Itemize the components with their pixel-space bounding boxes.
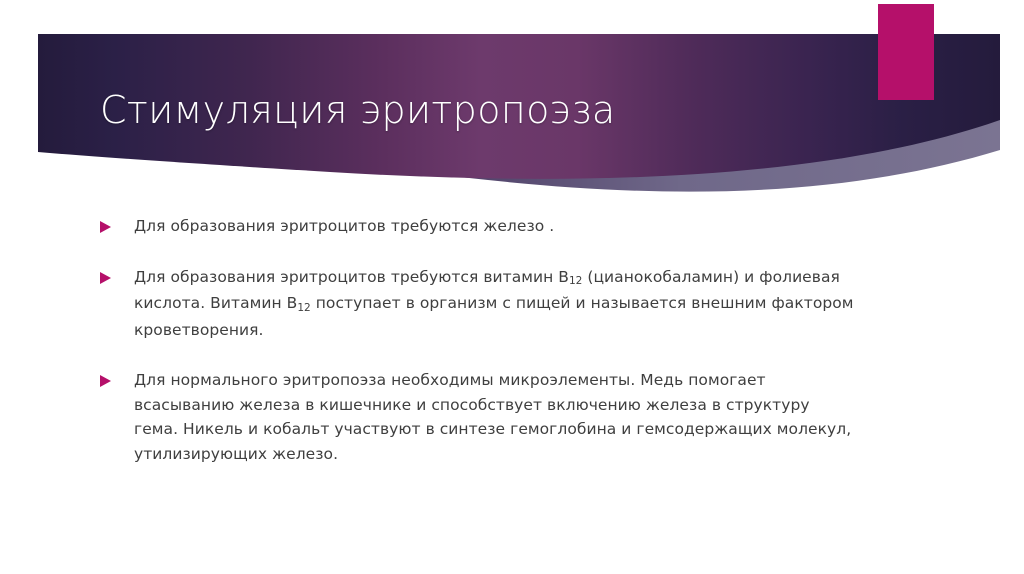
magenta-accent-bar bbox=[878, 4, 934, 100]
bullet-list: Для образования эритроцитов требуются же… bbox=[96, 214, 856, 466]
list-item-text: Для нормального эритропоэза необходимы м… bbox=[134, 368, 856, 466]
list-item-text: Для образования эритроцитов требуются ви… bbox=[134, 265, 856, 343]
triangle-bullet-icon bbox=[100, 272, 111, 284]
list-item: Для нормального эритропоэза необходимы м… bbox=[96, 368, 856, 466]
list-item: Для образования эритроцитов требуются ви… bbox=[96, 265, 856, 343]
triangle-bullet-icon bbox=[100, 375, 111, 387]
page-title: Стимуляция эритропоэза bbox=[100, 88, 616, 132]
list-item-text: Для образования эритроцитов требуются же… bbox=[134, 214, 856, 239]
slide: Стимуляция эритропоэза Для образования э… bbox=[0, 0, 1024, 574]
list-item: Для образования эритроцитов требуются же… bbox=[96, 214, 856, 239]
triangle-bullet-icon bbox=[100, 221, 111, 233]
